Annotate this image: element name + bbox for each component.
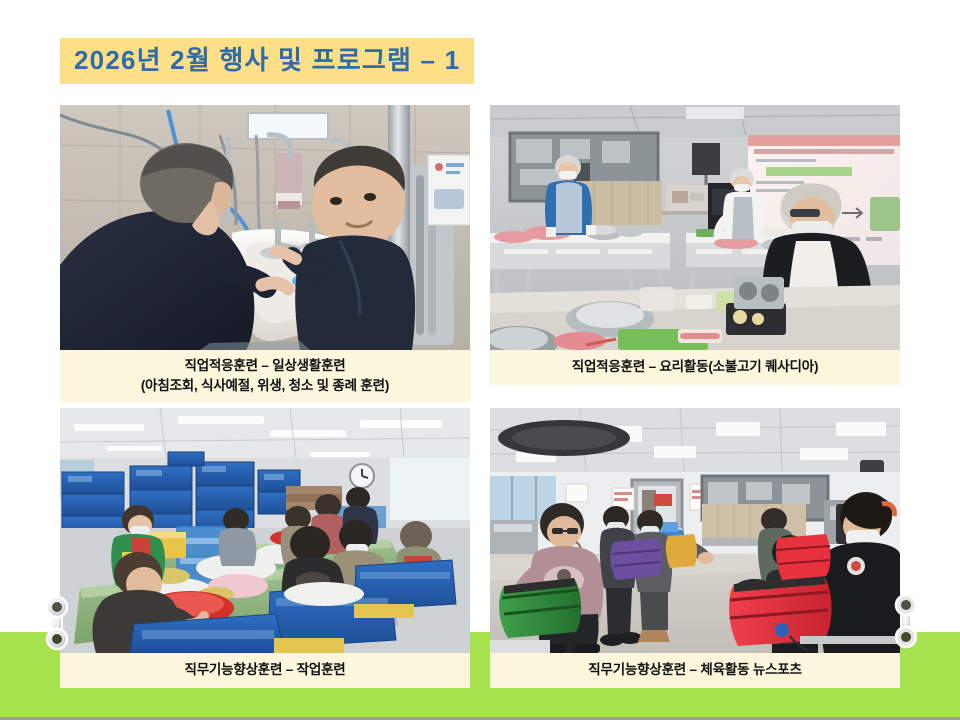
caption-line-2: (아침조회, 식사예절, 위생, 청소 및 종례 훈련) <box>66 376 464 396</box>
photo-caption-4: 직무기능향상훈련 – 체육활동 뉴스포츠 <box>490 653 900 688</box>
photo-new-sports-activity <box>490 408 900 653</box>
caption-line-1: 직무기능향상훈련 – 작업훈련 <box>184 662 345 677</box>
photo-card-1: 직업적응훈련 – 일상생활훈련 (아침조회, 식사예절, 위생, 청소 및 종례… <box>60 105 470 402</box>
caption-line-1: 직무기능향상훈련 – 체육활동 뉴스포츠 <box>588 662 801 677</box>
photo-caption-1: 직업적응훈련 – 일상생활훈련 (아침조회, 식사예절, 위생, 청소 및 종례… <box>60 350 470 402</box>
binder-clip-left-icon <box>44 594 70 652</box>
photo-work-training <box>60 408 470 653</box>
photo-caption-2: 직업적응훈련 – 요리활동(소불고기 퀘사디아) <box>490 350 900 385</box>
page-title: 2026년 2월 행사 및 프로그램 – 1 <box>60 38 474 84</box>
caption-line-1: 직업적응훈련 – 일상생활훈련 <box>184 358 345 373</box>
page-title-text: 2026년 2월 행사 및 프로그램 – 1 <box>60 38 474 84</box>
photo-card-3: 직무기능향상훈련 – 작업훈련 <box>60 408 470 688</box>
caption-line-1: 직업적응훈련 – 요리활동(소불고기 퀘사디아) <box>572 359 819 374</box>
photo-cooking-activity <box>490 105 900 350</box>
slide-canvas: 2026년 2월 행사 및 프로그램 – 1 <box>0 0 960 720</box>
photo-caption-3: 직무기능향상훈련 – 작업훈련 <box>60 653 470 688</box>
photo-card-2: 직업적응훈련 – 요리활동(소불고기 퀘사디아) <box>490 105 900 385</box>
binder-clip-right-icon <box>893 592 919 650</box>
photo-card-4: 직무기능향상훈련 – 체육활동 뉴스포츠 <box>490 408 900 688</box>
photo-daily-living-training <box>60 105 470 350</box>
